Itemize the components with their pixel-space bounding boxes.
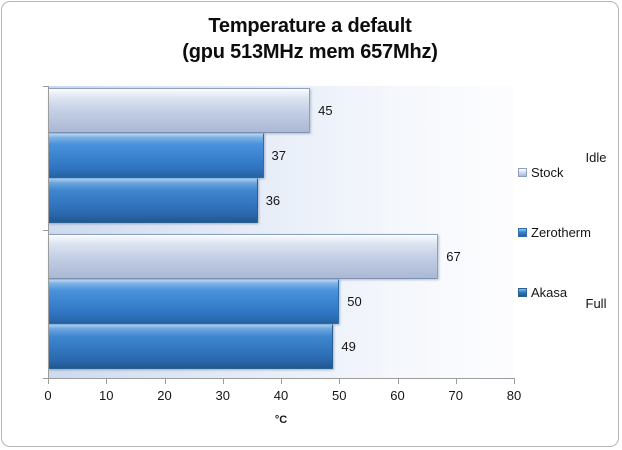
category-tick: [43, 86, 48, 87]
x-tick-label: 70: [436, 388, 476, 403]
x-tick-label: 50: [319, 388, 359, 403]
data-label-akasa-full: 49: [341, 339, 355, 354]
chart-title-line1: Temperature a default: [208, 15, 411, 37]
x-axis-title: °C: [2, 414, 560, 426]
data-label-zerotherm-idle: 37: [272, 148, 286, 163]
chart-frame: Temperature a default (gpu 513MHz mem 65…: [1, 1, 619, 447]
x-tick-label: 40: [261, 388, 301, 403]
bar-fill: [48, 234, 438, 279]
category-tick: [43, 378, 48, 379]
legend-swatch-icon: [518, 228, 527, 237]
legend-swatch-icon: [518, 288, 527, 297]
x-tick-label: 80: [494, 388, 534, 403]
data-label-akasa-idle: 36: [266, 193, 280, 208]
bar-zerotherm-idle: [48, 133, 264, 178]
bar-zerotherm-full: [48, 279, 339, 324]
legend-label: Akasa: [531, 285, 567, 300]
chart-title: Temperature a default (gpu 513MHz mem 65…: [2, 13, 618, 65]
x-tick-label: 0: [28, 388, 68, 403]
x-tick-label: 60: [378, 388, 418, 403]
bar-stock-idle: [48, 88, 310, 133]
data-label-zerotherm-full: 50: [347, 294, 361, 309]
data-label-stock-full: 67: [446, 249, 460, 264]
x-tick: [165, 379, 166, 384]
bar-fill: [48, 279, 339, 324]
category-label-full: Full: [574, 296, 618, 311]
bar-akasa-full: [48, 324, 333, 369]
legend-label: Zerotherm: [531, 225, 591, 240]
bar-fill: [48, 178, 258, 223]
category-label-idle: Idle: [574, 150, 618, 165]
bar-fill: [48, 133, 264, 178]
x-tick: [398, 379, 399, 384]
bar-akasa-idle: [48, 178, 258, 223]
bar-stock-full: [48, 234, 438, 279]
x-tick: [339, 379, 340, 384]
x-tick: [223, 379, 224, 384]
x-tick-label: 30: [203, 388, 243, 403]
y-axis-line: [48, 86, 49, 379]
x-tick: [106, 379, 107, 384]
x-tick: [281, 379, 282, 384]
x-tick: [48, 379, 49, 384]
chart-title-line2: (gpu 513MHz mem 657Mhz): [2, 39, 618, 65]
x-tick-label: 20: [145, 388, 185, 403]
legend-label: Stock: [531, 165, 564, 180]
x-tick: [456, 379, 457, 384]
bar-fill: [48, 324, 333, 369]
x-tick-label: 10: [86, 388, 126, 403]
legend-swatch-icon: [518, 168, 527, 177]
data-label-stock-idle: 45: [318, 103, 332, 118]
x-tick: [514, 379, 515, 384]
category-tick: [43, 230, 48, 231]
bar-fill: [48, 88, 310, 133]
